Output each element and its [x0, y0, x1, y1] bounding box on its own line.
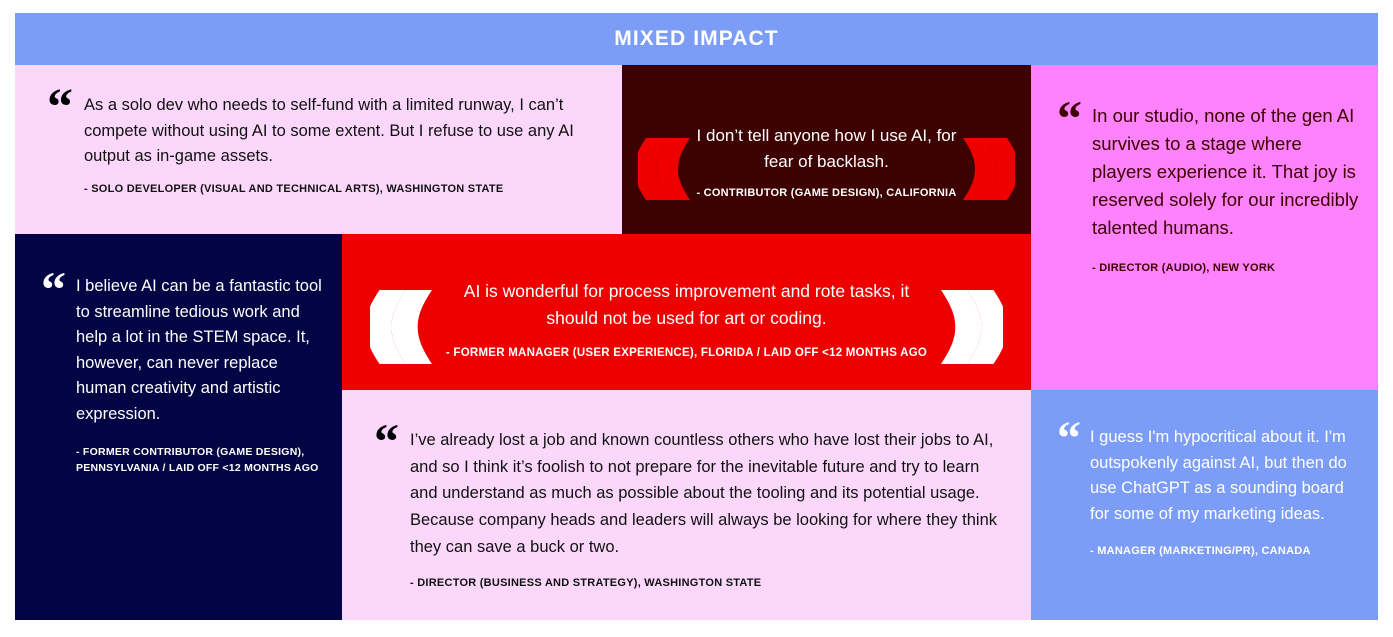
- open-quote-icon: “: [1057, 422, 1081, 457]
- quote-text: I’ve already lost a job and known countl…: [410, 427, 1005, 561]
- quote-text: As a solo dev who needs to self-fund wit…: [84, 93, 600, 170]
- quote-card-director-business-and-strategy: “ I’ve already lost a job and known coun…: [342, 390, 1031, 620]
- quote-body: I don’t tell anyone how I use AI, for fe…: [694, 123, 959, 202]
- quote-attribution: - CONTRIBUTOR (GAME DESIGN), CALIFORNIA: [694, 186, 959, 202]
- open-quote-icon: “: [41, 271, 66, 307]
- quote-text: In our studio, none of the gen AI surviv…: [1092, 102, 1360, 243]
- quote-text: I believe AI can be a fantastic tool to …: [76, 274, 326, 427]
- quote-attribution: - MANAGER (MARKETING/PR), CANADA: [1090, 545, 1362, 557]
- quote-text: I guess I'm hypocritical about it. I'm o…: [1090, 425, 1362, 527]
- section-header-banner: MIXED IMPACT: [15, 13, 1378, 65]
- quote-card-manager-marketing-pr: “ I guess I'm hypocritical about it. I'm…: [1031, 390, 1378, 620]
- open-quote-icon: “: [374, 423, 399, 459]
- open-quote-icon: “: [1057, 100, 1082, 136]
- quote-body: As a solo dev who needs to self-fund wit…: [84, 93, 600, 195]
- chevron-right-double-icon: [941, 290, 1003, 364]
- quote-text: AI is wonderful for process improvement …: [442, 278, 931, 332]
- quote-card-former-manager-user-experience: AI is wonderful for process improvement …: [342, 234, 1031, 390]
- quote-text: I don’t tell anyone how I use AI, for fe…: [694, 123, 959, 174]
- quote-card-contributor-game-design: I don’t tell anyone how I use AI, for fe…: [622, 65, 1031, 234]
- quote-body: I believe AI can be a fantastic tool to …: [76, 274, 326, 477]
- quote-body: I guess I'm hypocritical about it. I'm o…: [1090, 425, 1362, 557]
- chevron-left-double-icon: [370, 290, 432, 364]
- quote-card-director-audio: “ In our studio, none of the gen AI surv…: [1031, 65, 1378, 390]
- quote-body: AI is wonderful for process improvement …: [442, 278, 931, 362]
- quote-body: I’ve already lost a job and known countl…: [410, 427, 1005, 589]
- chevron-right-double-icon: [963, 138, 1015, 200]
- quote-board: MIXED IMPACT “ As a solo dev who needs t…: [15, 13, 1378, 620]
- quote-attribution: - FORMER CONTRIBUTOR (GAME DESIGN), PENN…: [76, 445, 326, 477]
- open-quote-icon: “: [47, 89, 73, 126]
- quote-attribution: - FORMER MANAGER (USER EXPERIENCE), FLOR…: [442, 345, 931, 362]
- quote-attribution: - SOLO DEVELOPER (VISUAL AND TECHNICAL A…: [84, 183, 600, 195]
- quote-attribution: - DIRECTOR (BUSINESS AND STRATEGY), WASH…: [410, 577, 1005, 589]
- chevron-left-double-icon: [638, 138, 690, 200]
- page-title: MIXED IMPACT: [614, 27, 778, 51]
- quote-card-solo-developer: “ As a solo dev who needs to self-fund w…: [15, 65, 622, 234]
- quote-body: In our studio, none of the gen AI surviv…: [1092, 102, 1360, 274]
- quote-attribution: - DIRECTOR (AUDIO), NEW YORK: [1092, 262, 1360, 274]
- quote-card-former-contributor-game-design: “ I believe AI can be a fantastic tool t…: [15, 234, 342, 620]
